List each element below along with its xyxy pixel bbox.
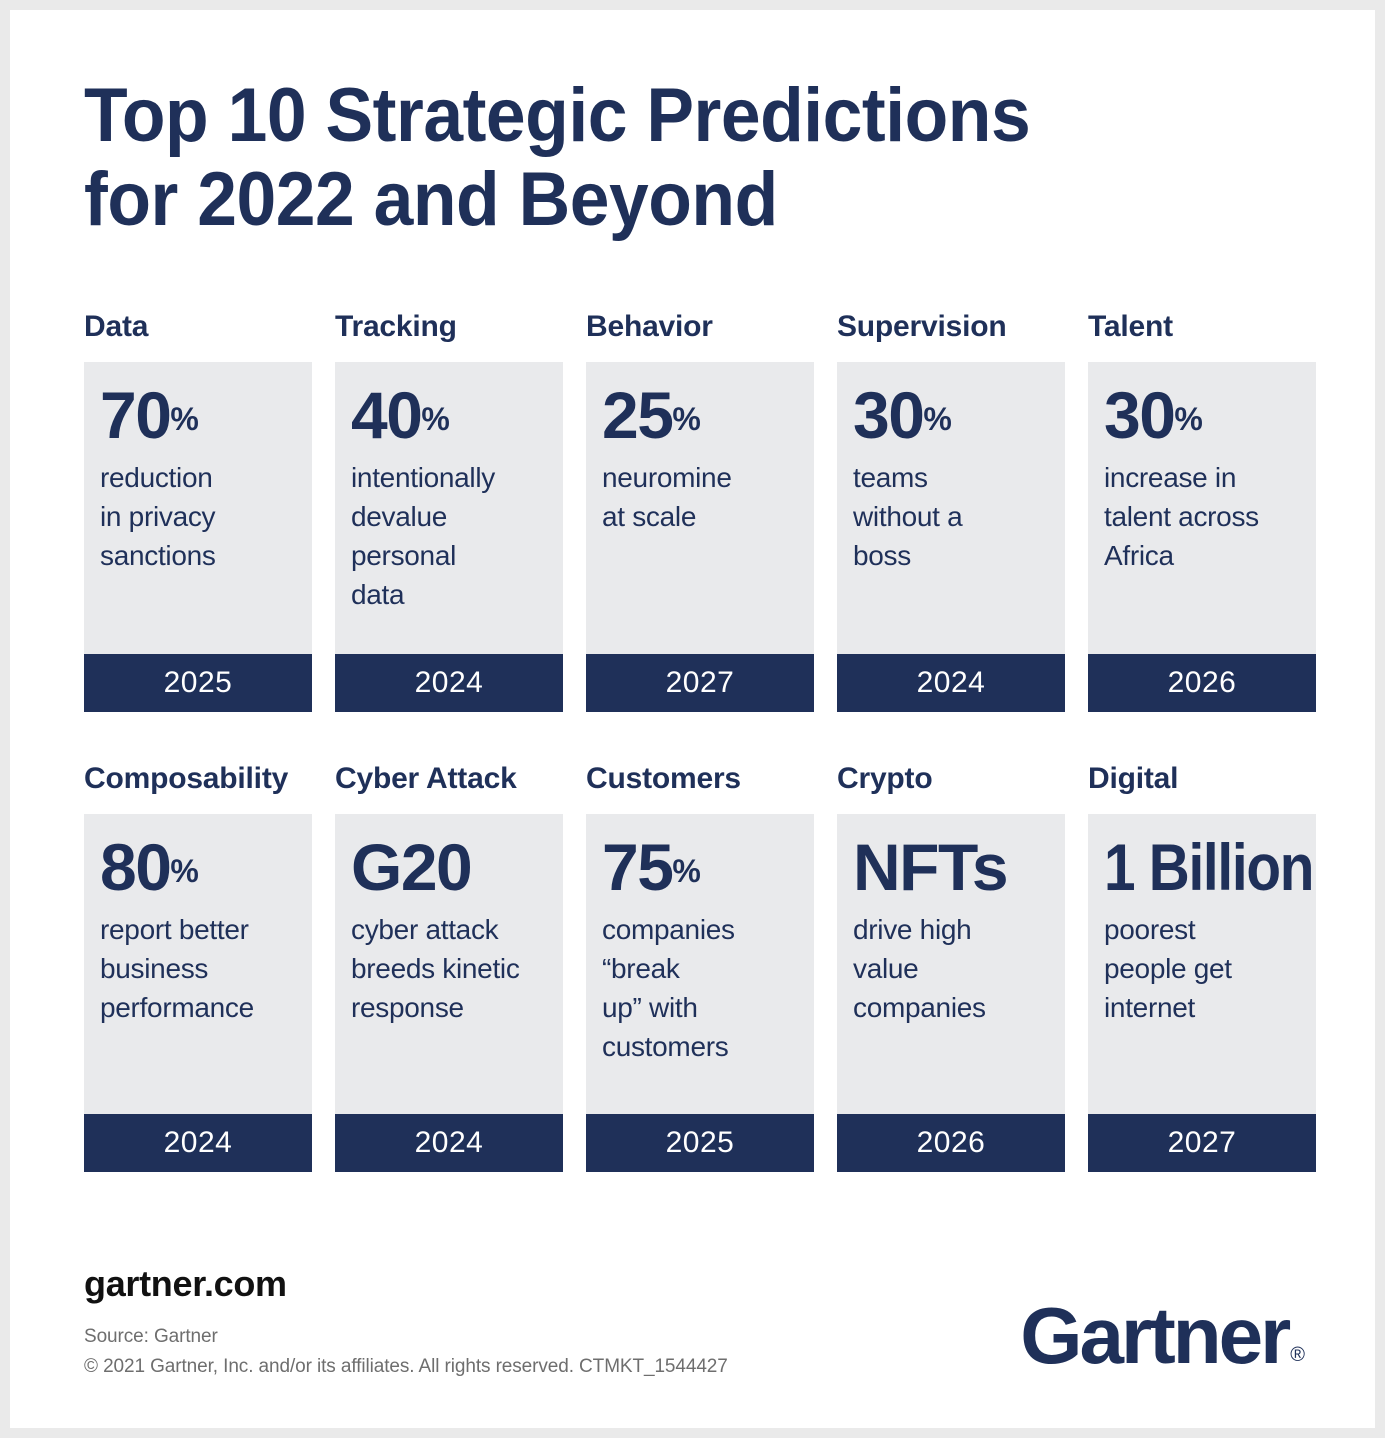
card-composability: Composability 80% report better business…: [84, 762, 312, 1172]
year-badge: 2027: [1088, 1114, 1316, 1172]
card-crypto: Crypto NFTs drive high value companies 2…: [837, 762, 1065, 1172]
gartner-logo-text: Gartner: [1020, 1291, 1288, 1380]
year-badge: 2025: [84, 654, 312, 712]
stat-number: 30: [853, 378, 923, 452]
percent-symbol: %: [672, 401, 700, 437]
stat-description: companies “break up” with customers: [602, 910, 798, 1066]
stat-value: 1 Billion: [1104, 832, 1273, 902]
stat-description: teams without a boss: [853, 458, 1049, 575]
stat-description: increase in talent across Africa: [1104, 458, 1300, 575]
stat-description: poorest people get internet: [1104, 910, 1300, 1027]
stat-card: 25% neuromine at scale: [586, 362, 814, 654]
year-badge: 2024: [335, 1114, 563, 1172]
stat-value: 30%: [1104, 380, 1300, 450]
stat-number: G20: [351, 830, 471, 904]
category-label: Digital: [1088, 762, 1316, 796]
category-label: Cyber Attack: [335, 762, 563, 796]
stat-value: 25%: [602, 380, 798, 450]
category-label: Composability: [84, 762, 312, 796]
footer-website-url[interactable]: gartner.com: [84, 1263, 287, 1305]
category-label: Data: [84, 310, 312, 344]
stat-value: 40%: [351, 380, 547, 450]
category-label: Supervision: [837, 310, 1065, 344]
stat-description: report better business performance: [100, 910, 296, 1027]
stat-number: 25: [602, 378, 672, 452]
percent-symbol: %: [923, 401, 951, 437]
year-badge: 2024: [84, 1114, 312, 1172]
infographic-page: Top 10 Strategic Predictions for 2022 an…: [10, 10, 1375, 1428]
category-label: Customers: [586, 762, 814, 796]
stat-card: 30% teams without a boss: [837, 362, 1065, 654]
card-grid-row-2: Composability 80% report better business…: [84, 762, 1323, 1172]
stat-value: 80%: [100, 832, 296, 902]
year-badge: 2024: [837, 654, 1065, 712]
stat-number: 75: [602, 830, 672, 904]
card-cyber-attack: Cyber Attack G20 cyber attack breeds kin…: [335, 762, 563, 1172]
stat-card: 75% companies “break up” with customers: [586, 814, 814, 1114]
stat-value: 70%: [100, 380, 296, 450]
page-title: Top 10 Strategic Predictions for 2022 an…: [84, 74, 1212, 242]
percent-symbol: %: [421, 401, 449, 437]
stat-number: 70: [100, 378, 170, 452]
stat-number: 30: [1104, 378, 1174, 452]
percent-symbol: %: [672, 853, 700, 889]
category-label: Talent: [1088, 310, 1316, 344]
percent-symbol: %: [1174, 401, 1202, 437]
stat-description: reduction in privacy sanctions: [100, 458, 296, 575]
stat-number: 80: [100, 830, 170, 904]
stat-value: NFTs: [853, 832, 1049, 902]
category-label: Behavior: [586, 310, 814, 344]
stat-number: 1 Billion: [1104, 830, 1313, 904]
stat-card: 1 Billion poorest people get internet: [1088, 814, 1316, 1114]
year-badge: 2027: [586, 654, 814, 712]
year-badge: 2026: [1088, 654, 1316, 712]
stat-value: 30%: [853, 380, 1049, 450]
card-digital: Digital 1 Billion poorest people get int…: [1088, 762, 1316, 1172]
year-badge: 2026: [837, 1114, 1065, 1172]
stat-card: 80% report better business performance: [84, 814, 312, 1114]
year-badge: 2025: [586, 1114, 814, 1172]
card-data: Data 70% reduction in privacy sanctions …: [84, 310, 312, 712]
stat-description: drive high value companies: [853, 910, 1049, 1027]
stat-value: 75%: [602, 832, 798, 902]
percent-symbol: %: [170, 853, 198, 889]
stat-description: cyber attack breeds kinetic response: [351, 910, 547, 1027]
card-customers: Customers 75% companies “break up” with …: [586, 762, 814, 1172]
stat-card: NFTs drive high value companies: [837, 814, 1065, 1114]
stat-card: G20 cyber attack breeds kinetic response: [335, 814, 563, 1114]
card-tracking: Tracking 40% intentionally devalue perso…: [335, 310, 563, 712]
stat-value: G20: [351, 832, 547, 902]
stat-description: neuromine at scale: [602, 458, 798, 536]
card-grid-row-1: Data 70% reduction in privacy sanctions …: [84, 310, 1323, 712]
year-badge: 2024: [335, 654, 563, 712]
category-label: Crypto: [837, 762, 1065, 796]
card-supervision: Supervision 30% teams without a boss 202…: [837, 310, 1065, 712]
footer-source: Source: Gartner: [84, 1326, 218, 1348]
stat-card: 40% intentionally devalue personal data: [335, 362, 563, 654]
registered-trademark-icon: ®: [1290, 1344, 1305, 1366]
stat-number: 40: [351, 378, 421, 452]
stat-card: 70% reduction in privacy sanctions: [84, 362, 312, 654]
percent-symbol: %: [170, 401, 198, 437]
stat-card: 30% increase in talent across Africa: [1088, 362, 1316, 654]
stat-number: NFTs: [853, 830, 1007, 904]
footer-copyright: © 2021 Gartner, Inc. and/or its affiliat…: [84, 1356, 728, 1378]
gartner-logo: Gartner®: [1020, 1296, 1303, 1397]
category-label: Tracking: [335, 310, 563, 344]
card-behavior: Behavior 25% neuromine at scale 2027: [586, 310, 814, 712]
stat-description: intentionally devalue personal data: [351, 458, 547, 614]
card-talent: Talent 30% increase in talent across Afr…: [1088, 310, 1316, 712]
